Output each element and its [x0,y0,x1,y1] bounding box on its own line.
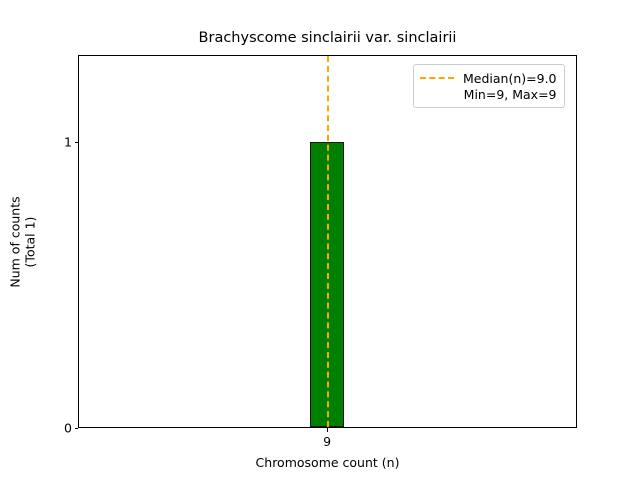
legend-dashed-line-icon [420,77,454,79]
legend-label-minmax: Min=9, Max=9 [464,87,557,102]
legend-entry-median: Median(n)=9.0 [420,70,557,86]
chart-title: Brachyscome sinclairii var. sinclairii [78,30,577,47]
chart-figure: Brachyscome sinclairii var. sinclairii 0… [0,0,640,480]
x-axis-label: Chromosome count (n) [78,455,577,470]
y-axis-label-line2: (Total 1) [23,196,38,287]
y-axis-label: Num of counts (Total 1) [0,55,46,428]
x-tick-mark [327,428,328,432]
y-axis-label-text: Num of counts (Total 1) [8,196,38,287]
legend-label-median: Median(n)=9.0 [463,71,557,86]
y-tick-label: 1 [64,134,72,149]
y-axis-label-line1: Num of counts [8,196,23,287]
x-axis-ticks: 9 [78,55,577,428]
legend-entry-minmax: Min=9, Max=9 [420,86,557,102]
chart-legend: Median(n)=9.0 Min=9, Max=9 [413,64,565,108]
y-tick-label: 0 [64,421,72,436]
y-tick-mark [75,428,79,429]
x-tick-label: 9 [323,434,331,449]
